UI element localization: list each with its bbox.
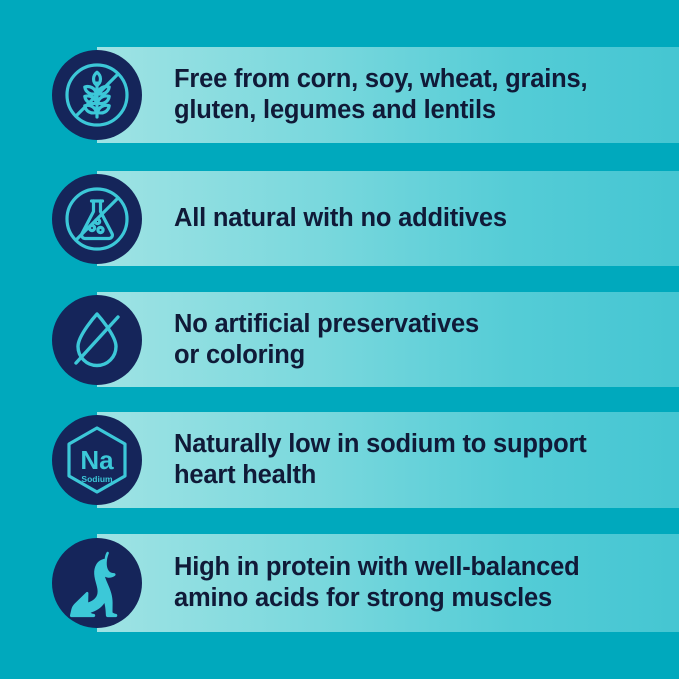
no-droplet-icon: [52, 295, 142, 385]
benefit-text-high-protein: High in protein with well-balanced amino…: [174, 552, 579, 614]
benefit-text-no-additives: All natural with no additives: [174, 203, 507, 234]
dog-icon: [52, 538, 142, 628]
benefit-row-no-additives: All natural with no additives: [0, 171, 679, 266]
sodium-name-text: Sodium: [81, 474, 113, 484]
benefits-infographic: Free from corn, soy, wheat, grains, glut…: [0, 0, 679, 679]
benefit-row-no-preservatives: No artificial preservatives or coloring: [0, 292, 679, 387]
no-flask-icon: [52, 174, 142, 264]
benefit-text-low-sodium: Naturally low in sodium to support heart…: [174, 429, 587, 491]
benefit-row-high-protein: High in protein with well-balanced amino…: [0, 534, 679, 632]
sodium-hexagon-icon: Na Sodium: [52, 415, 142, 505]
benefit-row-low-sodium: Na Sodium Naturally low in sodium to sup…: [0, 412, 679, 508]
benefit-text-no-preservatives: No artificial preservatives or coloring: [174, 309, 479, 371]
no-grain-icon: [52, 50, 142, 140]
benefit-text-grain-free: Free from corn, soy, wheat, grains, glut…: [174, 64, 587, 126]
benefit-row-grain-free: Free from corn, soy, wheat, grains, glut…: [0, 47, 679, 143]
sodium-symbol-text: Na: [80, 445, 114, 475]
